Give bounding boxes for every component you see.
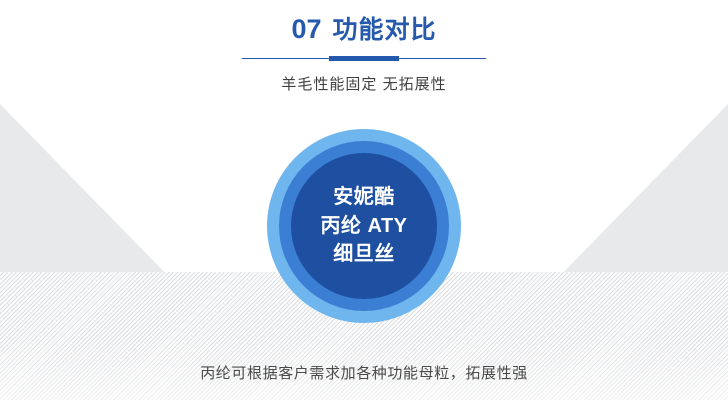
page-title: 07 功能对比 <box>291 16 436 43</box>
bottom-caption: 丙纶可根据客户需求加各种功能母粒，拓展性强 <box>0 362 728 383</box>
product-badge-line-3: 细旦丝 <box>333 240 395 268</box>
title-underline-accent <box>329 56 399 61</box>
slide-canvas: 07 功能对比 羊毛性能固定 无拓展性 安妮酷 丙纶 ATY 细旦丝 丙纶可根据… <box>0 0 728 400</box>
product-badge-middle-ring: 安妮酷 丙纶 ATY 细旦丝 <box>279 141 449 311</box>
section-number: 07 <box>291 16 321 43</box>
section-subtitle: 羊毛性能固定 无拓展性 <box>0 76 728 94</box>
header-block: 07 功能对比 羊毛性能固定 无拓展性 <box>0 16 728 94</box>
title-underline <box>242 56 486 62</box>
product-badge-line-1: 安妮酷 <box>333 183 395 211</box>
product-badge-line-2: 丙纶 ATY <box>320 212 407 240</box>
product-badge-outer-ring: 安妮酷 丙纶 ATY 细旦丝 <box>267 129 461 323</box>
product-badge-core: 安妮酷 丙纶 ATY 细旦丝 <box>291 153 437 299</box>
section-title: 功能对比 <box>333 18 437 43</box>
